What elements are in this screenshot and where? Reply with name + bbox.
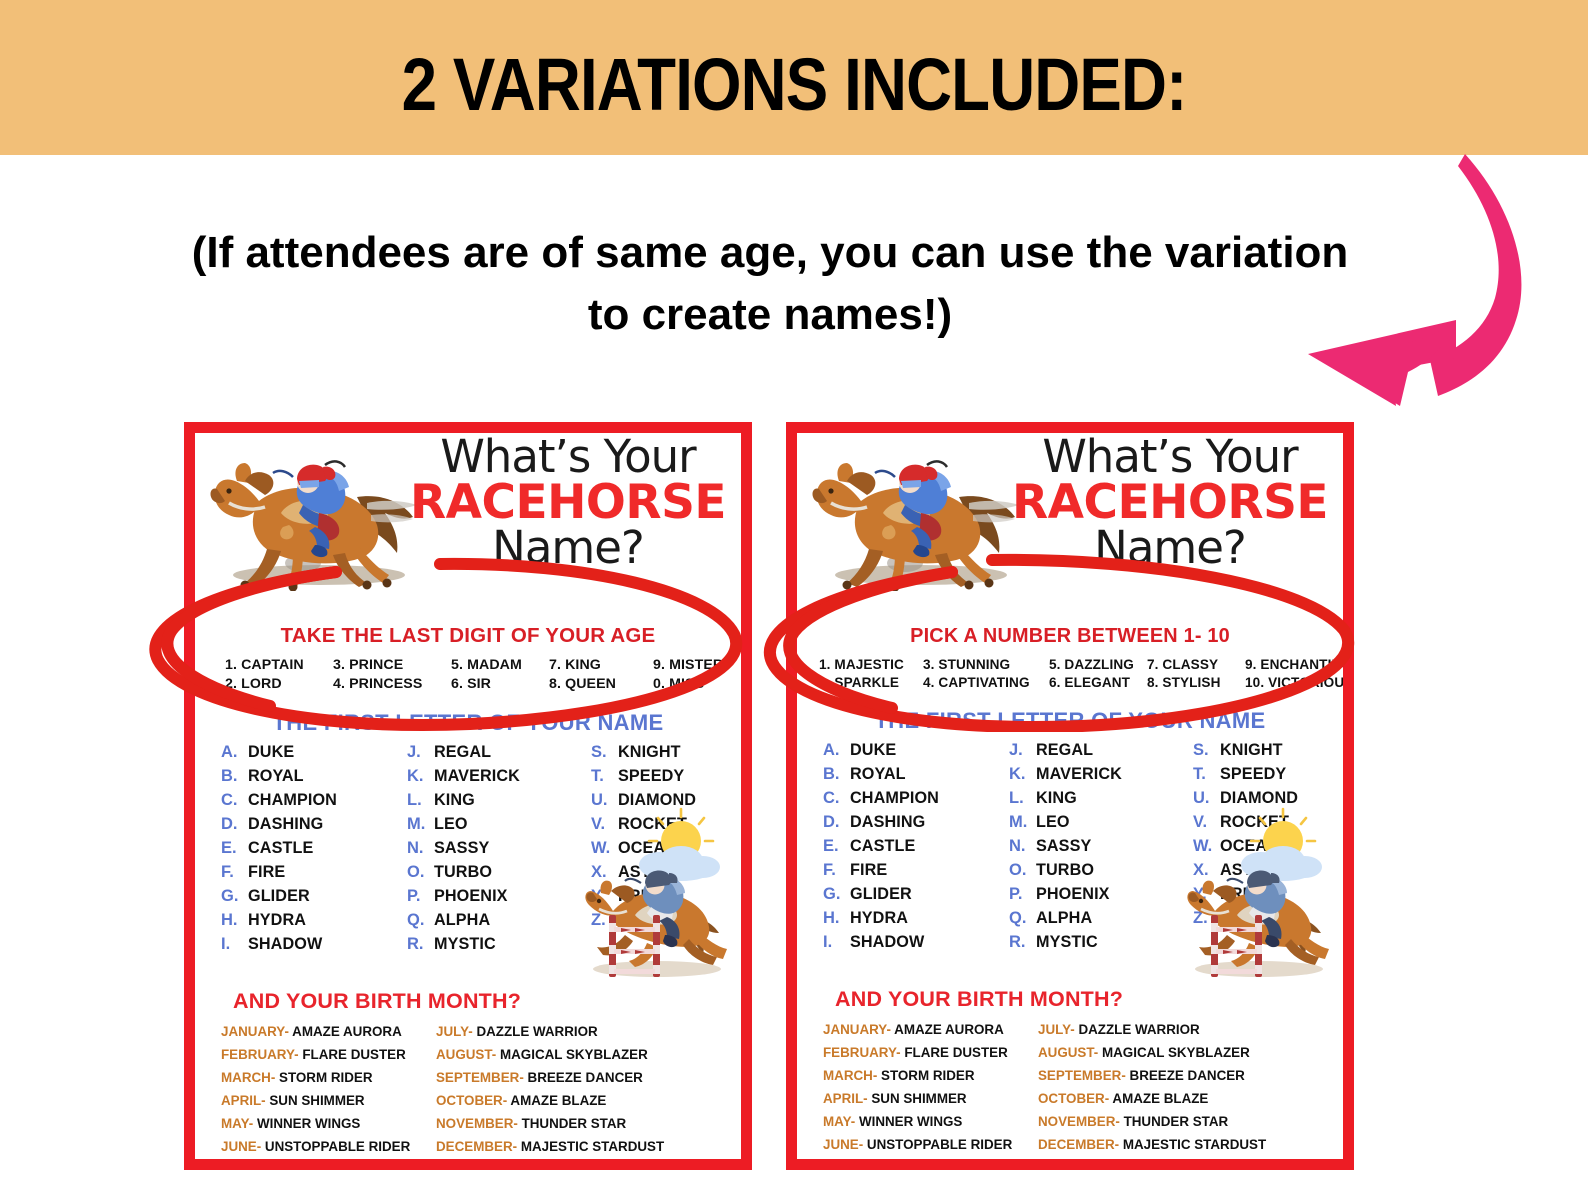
letter-key: T. [1193,765,1220,784]
poster-2-title: What’s Your RACEHORSE Name? [1005,435,1335,569]
jockey-jumping-horse-icon [585,799,735,977]
letter-row: D.DASHING [221,815,407,839]
letter-row: K.MAVERICK [407,767,591,791]
number-item: 6. SIR [451,676,549,692]
poster-1-letters-heading: THE FIRST LETTER OF YOUR NAME [195,710,741,736]
month-value: STORM RIDER [275,1070,372,1085]
letter-row: J.REGAL [1009,741,1193,765]
letter-value: ALPHA [434,911,490,930]
number-item: 4. CAPTIVATING [923,675,1049,690]
month-value: SUN SHIMMER [266,1093,365,1108]
month-value: BREEZE DANCER [524,1070,643,1085]
letter-key: B. [221,767,248,786]
letter-key: M. [1009,813,1036,832]
month-value: BREEZE DANCER [1126,1068,1245,1083]
poster-variation-2[interactable]: What’s Your RACEHORSE Name? PICK A NUMBE… [786,422,1354,1170]
number-item: 10. VICTORIOUS [1245,675,1354,690]
month-row: FEBRUARY- FLARE DUSTER [221,1044,436,1066]
poster-2-numbers-grid: 1. MAJESTIC 3. STUNNING 5. DAZZLING 7. C… [819,657,1343,690]
letter-value: MYSTIC [434,935,496,954]
letter-row: J.REGAL [407,743,591,767]
letter-value: KNIGHT [618,743,681,762]
month-value: WINNER WINGS [855,1114,962,1129]
month-row: APRIL- SUN SHIMMER [221,1090,436,1112]
letter-key: C. [221,791,248,810]
letter-key: Q. [1009,909,1036,928]
letters-column-1: A.DUKE B.ROYAL C.CHAMPION D.DASHING E.CA… [823,741,1009,957]
month-key: MAY- [823,1114,855,1129]
letter-row: Q.ALPHA [407,911,591,935]
letter-key: C. [823,789,850,808]
letter-value: DASHING [248,815,323,834]
number-item: 6. ELEGANT [1049,675,1147,690]
letter-row: C.CHAMPION [221,791,407,815]
letter-value: HYDRA [248,911,306,930]
month-key: MAY- [221,1116,253,1131]
letter-row: B.ROYAL [823,765,1009,789]
poster-1-title: What’s Your RACEHORSE Name? [403,435,733,569]
month-row: JULY- DAZZLE WARRIOR [1038,1019,1313,1041]
letter-value: KNIGHT [1220,741,1283,760]
letter-value: ROYAL [248,767,304,786]
letter-row: F.FIRE [221,863,407,887]
month-key: NOVEMBER- [436,1116,518,1131]
letter-key: N. [407,839,434,858]
number-item: 9. MISTER [653,657,752,673]
letter-key: J. [407,743,434,762]
letter-row: E.CASTLE [823,837,1009,861]
month-key: OCTOBER- [1038,1091,1109,1106]
letter-key: T. [591,767,618,786]
month-key: SEPTEMBER- [1038,1068,1126,1083]
month-value: DAZZLE WARRIOR [1075,1022,1200,1037]
letter-value: GLIDER [248,887,310,906]
month-key: JUNE- [221,1139,261,1154]
letter-key: N. [1009,837,1036,856]
letter-value: FIRE [850,861,887,880]
letter-key: H. [823,909,850,928]
title-line-3: Name? [1005,526,1335,569]
letter-key: O. [1009,861,1036,880]
month-key: JULY- [436,1024,473,1039]
month-value: THUNDER STAR [1120,1114,1228,1129]
poster-variation-1[interactable]: What’s Your RACEHORSE Name? TAKE THE LAS… [184,422,752,1170]
letter-value: SASSY [434,839,489,858]
number-item: 5. DAZZLING [1049,657,1147,672]
letters-column-2: J.REGAL K.MAVERICK L.KING M.LEO N.SASSY … [407,743,591,959]
letter-row: K.MAVERICK [1009,765,1193,789]
month-row: JANUARY- AMAZE AURORA [221,1021,436,1043]
letter-key: R. [1009,933,1036,952]
month-value: MAJESTIC STARDUST [517,1139,664,1154]
month-key: SEPTEMBER- [436,1070,524,1085]
letter-row: T.SPEEDY [591,767,751,791]
letter-row: D.DASHING [823,813,1009,837]
letter-row: A.DUKE [823,741,1009,765]
letter-row: L.KING [1009,789,1193,813]
month-row: OCTOBER- AMAZE BLAZE [1038,1088,1313,1110]
month-key: FEBRUARY- [221,1047,299,1062]
letter-value: PHOENIX [1036,885,1110,904]
month-value: MAGICAL SKYBLAZER [1098,1045,1250,1060]
month-row: JULY- DAZZLE WARRIOR [436,1021,711,1043]
month-row: FEBRUARY- FLARE DUSTER [823,1042,1038,1064]
month-value: UNSTOPPABLE RIDER [261,1139,410,1154]
letter-value: SASSY [1036,837,1091,856]
letter-value: ROYAL [850,765,906,784]
month-value: STORM RIDER [877,1068,974,1083]
letter-value: HYDRA [850,909,908,928]
number-item: 9. ENCHANTING [1245,657,1354,672]
letter-value: PHOENIX [434,887,508,906]
month-row: SEPTEMBER- BREEZE DANCER [1038,1065,1313,1087]
letter-key: Q. [407,911,434,930]
jockey-running-horse-icon [809,441,1031,591]
letter-key: E. [823,837,850,856]
month-row: JUNE- UNSTOPPABLE RIDER [221,1136,436,1158]
jockey-jumping-horse-icon [1187,799,1337,977]
month-value: AMAZE BLAZE [1109,1091,1208,1106]
poster-2-numbers-heading: PICK A NUMBER BETWEEN 1- 10 [805,624,1335,648]
letter-key: I. [221,935,248,954]
month-row: DECEMBER- MAJESTIC STARDUST [436,1136,711,1158]
month-key: APRIL- [221,1093,266,1108]
month-key: JANUARY- [823,1022,891,1037]
letter-key: H. [221,911,248,930]
month-key: JANUARY- [221,1024,289,1039]
letter-value: KING [1036,789,1077,808]
letter-value: CASTLE [248,839,313,858]
poster-2-header: What’s Your RACEHORSE Name? [797,433,1343,593]
letter-row: N.SASSY [1009,837,1193,861]
letter-key: F. [221,863,248,882]
month-row: OCTOBER- AMAZE BLAZE [436,1090,711,1112]
month-value: FLARE DUSTER [299,1047,406,1062]
month-row: JANUARY- AMAZE AURORA [823,1019,1038,1041]
letter-row: P.PHOENIX [1009,885,1193,909]
number-item: 8. QUEEN [549,676,653,692]
letter-key: R. [407,935,434,954]
number-item: 2. SPARKLE [819,675,923,690]
month-key: JUNE- [823,1137,863,1152]
number-item: 4. PRINCESS [333,676,451,692]
month-row: MAY- WINNER WINGS [221,1113,436,1135]
month-value: SUN SHIMMER [868,1091,967,1106]
poster-1-numbers-grid: 1. CAPTAIN 3. PRINCE 5. MADAM 7. KING 9.… [225,657,741,692]
letter-key: D. [823,813,850,832]
month-row: JUNE- UNSTOPPABLE RIDER [823,1134,1038,1156]
letter-value: REGAL [434,743,491,762]
letter-value: KING [434,791,475,810]
letter-key: M. [407,815,434,834]
month-value: WINNER WINGS [253,1116,360,1131]
letter-key: E. [221,839,248,858]
month-value: AMAZE AURORA [289,1024,402,1039]
number-item: 0. MISS [653,676,752,692]
letter-key: J. [1009,741,1036,760]
number-item: 3. PRINCE [333,657,451,673]
letter-row: N.SASSY [407,839,591,863]
letter-key: G. [823,885,850,904]
letter-key: F. [823,861,850,880]
letter-value: SPEEDY [1220,765,1286,784]
poster-2-months-grid: JANUARY- AMAZE AURORA JULY- DAZZLE WARRI… [823,1019,1343,1156]
letter-value: SHADOW [248,935,322,954]
letter-row: H.HYDRA [221,911,407,935]
letters-column-1: A.DUKE B.ROYAL C.CHAMPION D.DASHING E.CA… [221,743,407,959]
letter-row: A.DUKE [221,743,407,767]
month-key: AUGUST- [436,1047,496,1062]
letter-row: I.SHADOW [823,933,1009,957]
letter-key: B. [823,765,850,784]
letter-key: K. [407,767,434,786]
month-row: SEPTEMBER- BREEZE DANCER [436,1067,711,1089]
poster-2-letters-heading: THE FIRST LETTER OF YOUR NAME [797,708,1343,734]
poster-2-months-heading: AND YOUR BIRTH MONTH? [835,987,1343,1012]
letter-row: G.GLIDER [823,885,1009,909]
letters-column-2: J.REGAL K.MAVERICK L.KING M.LEO N.SASSY … [1009,741,1193,957]
curved-arrow-down-left-icon [1280,148,1580,408]
letter-row: S.KNIGHT [1193,741,1353,765]
letter-key: O. [407,863,434,882]
poster-1-months-heading: AND YOUR BIRTH MONTH? [233,989,741,1014]
letter-value: SPEEDY [618,767,684,786]
month-key: JULY- [1038,1022,1075,1037]
letter-row: R.MYSTIC [407,935,591,959]
letter-row: Q.ALPHA [1009,909,1193,933]
letter-value: CHAMPION [850,789,939,808]
month-key: DECEMBER- [436,1139,517,1154]
month-key: NOVEMBER- [1038,1114,1120,1129]
month-row: NOVEMBER- THUNDER STAR [436,1113,711,1135]
page-root: 2 VARIATIONS INCLUDED: (If attendees are… [0,0,1588,1191]
letter-row: M.LEO [407,815,591,839]
number-item: 5. MADAM [451,657,549,673]
month-row: DECEMBER- MAJESTIC STARDUST [1038,1134,1313,1156]
poster-1-header: What’s Your RACEHORSE Name? [195,433,741,593]
month-key: OCTOBER- [436,1093,507,1108]
letter-value: REGAL [1036,741,1093,760]
letter-row: L.KING [407,791,591,815]
month-row: AUGUST- MAGICAL SKYBLAZER [436,1044,711,1066]
month-value: MAJESTIC STARDUST [1119,1137,1266,1152]
letter-value: TURBO [434,863,492,882]
letter-key: D. [221,815,248,834]
letter-row: P.PHOENIX [407,887,591,911]
letter-value: DUKE [248,743,294,762]
letter-key: P. [1009,885,1036,904]
letter-value: CASTLE [850,837,915,856]
letter-value: LEO [1036,813,1070,832]
month-key: AUGUST- [1038,1045,1098,1060]
letter-value: GLIDER [850,885,912,904]
month-row: MARCH- STORM RIDER [221,1067,436,1089]
letter-key: K. [1009,765,1036,784]
month-row: MARCH- STORM RIDER [823,1065,1038,1087]
letter-value: LEO [434,815,468,834]
letter-key: L. [407,791,434,810]
banner-title: 2 VARIATIONS INCLUDED: [111,42,1477,127]
letter-value: MYSTIC [1036,933,1098,952]
poster-1-months-grid: JANUARY- AMAZE AURORA JULY- DAZZLE WARRI… [221,1021,741,1158]
letter-key: G. [221,887,248,906]
month-row: NOVEMBER- THUNDER STAR [1038,1111,1313,1133]
letter-row: M.LEO [1009,813,1193,837]
poster-1-content: What’s Your RACEHORSE Name? TAKE THE LAS… [195,433,741,1159]
letter-value: CHAMPION [248,791,337,810]
letter-row: C.CHAMPION [823,789,1009,813]
top-banner: 2 VARIATIONS INCLUDED: [0,0,1588,155]
letter-row: F.FIRE [823,861,1009,885]
month-value: AMAZE BLAZE [507,1093,606,1108]
month-value: AMAZE AURORA [891,1022,1004,1037]
number-item: 2. LORD [225,676,333,692]
letter-value: MAVERICK [434,767,520,786]
letter-key: A. [221,743,248,762]
month-key: APRIL- [823,1091,868,1106]
letter-key: L. [1009,789,1036,808]
month-value: UNSTOPPABLE RIDER [863,1137,1012,1152]
number-item: 8. STYLISH [1147,675,1245,690]
letter-key: S. [1193,741,1220,760]
letter-row: E.CASTLE [221,839,407,863]
poster-2-content: What’s Your RACEHORSE Name? PICK A NUMBE… [797,433,1343,1159]
letter-value: DASHING [850,813,925,832]
number-item: 7. CLASSY [1147,657,1245,672]
jockey-running-horse-icon [207,441,429,591]
letter-key: A. [823,741,850,760]
letter-row: R.MYSTIC [1009,933,1193,957]
letter-value: ALPHA [1036,909,1092,928]
month-key: DECEMBER- [1038,1137,1119,1152]
number-item: 1. CAPTAIN [225,657,333,673]
month-value: FLARE DUSTER [901,1045,1008,1060]
letter-key: P. [407,887,434,906]
letter-row: G.GLIDER [221,887,407,911]
letter-value: FIRE [248,863,285,882]
month-row: AUGUST- MAGICAL SKYBLAZER [1038,1042,1313,1064]
letter-row: H.HYDRA [823,909,1009,933]
letter-row: S.KNIGHT [591,743,751,767]
month-key: MARCH- [221,1070,275,1085]
letter-value: SHADOW [850,933,924,952]
number-item: 1. MAJESTIC [819,657,923,672]
title-line-2: RACEHORSE [403,480,733,525]
letter-row: B.ROYAL [221,767,407,791]
poster-1-numbers-heading: TAKE THE LAST DIGIT OF YOUR AGE [195,624,741,648]
letter-key: I. [823,933,850,952]
month-value: DAZZLE WARRIOR [473,1024,598,1039]
letter-row: I.SHADOW [221,935,407,959]
letter-value: TURBO [1036,861,1094,880]
month-row: MAY- WINNER WINGS [823,1111,1038,1133]
letter-row: O.TURBO [407,863,591,887]
letter-value: DUKE [850,741,896,760]
title-line-3: Name? [403,526,733,569]
title-line-1: What’s Your [1005,435,1335,478]
number-item: 7. KING [549,657,653,673]
title-line-2: RACEHORSE [1005,480,1335,525]
month-key: FEBRUARY- [823,1045,901,1060]
letter-value: MAVERICK [1036,765,1122,784]
month-value: THUNDER STAR [518,1116,626,1131]
letter-row: O.TURBO [1009,861,1193,885]
letter-row: T.SPEEDY [1193,765,1353,789]
month-row: APRIL- SUN SHIMMER [823,1088,1038,1110]
number-item: 3. STUNNING [923,657,1049,672]
caption-text: (If attendees are of same age, you can u… [190,222,1350,346]
title-line-1: What’s Your [403,435,733,478]
letter-key: S. [591,743,618,762]
month-key: MARCH- [823,1068,877,1083]
month-value: MAGICAL SKYBLAZER [496,1047,648,1062]
